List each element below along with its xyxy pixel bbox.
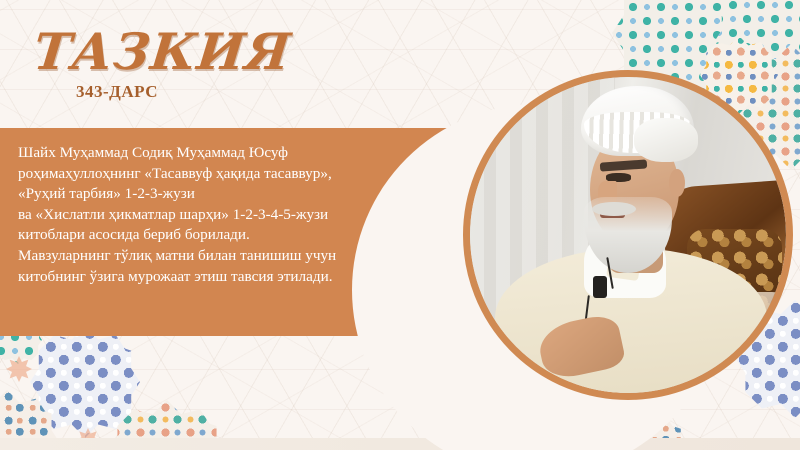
portrait-turban-crown <box>634 118 697 162</box>
lesson-number-label: 343-ДАРС <box>76 82 158 102</box>
portrait-moustache <box>592 202 636 216</box>
footer-strip <box>0 438 800 450</box>
brand-title: ТАЗКИЯ <box>31 22 294 81</box>
star-accent-left <box>6 356 32 382</box>
portrait-circle-frame <box>463 70 793 400</box>
portrait-photo <box>470 77 786 393</box>
portrait-ear <box>669 169 685 197</box>
body-text: Шайх Муҳаммад Содиқ Муҳаммад Юсуф роҳима… <box>18 143 448 287</box>
slide-canvas: ТАЗКИЯ 343-ДАРС Шайх Муҳаммад Содиқ Муҳа… <box>0 0 800 450</box>
portrait-lapel-mic <box>593 276 607 298</box>
